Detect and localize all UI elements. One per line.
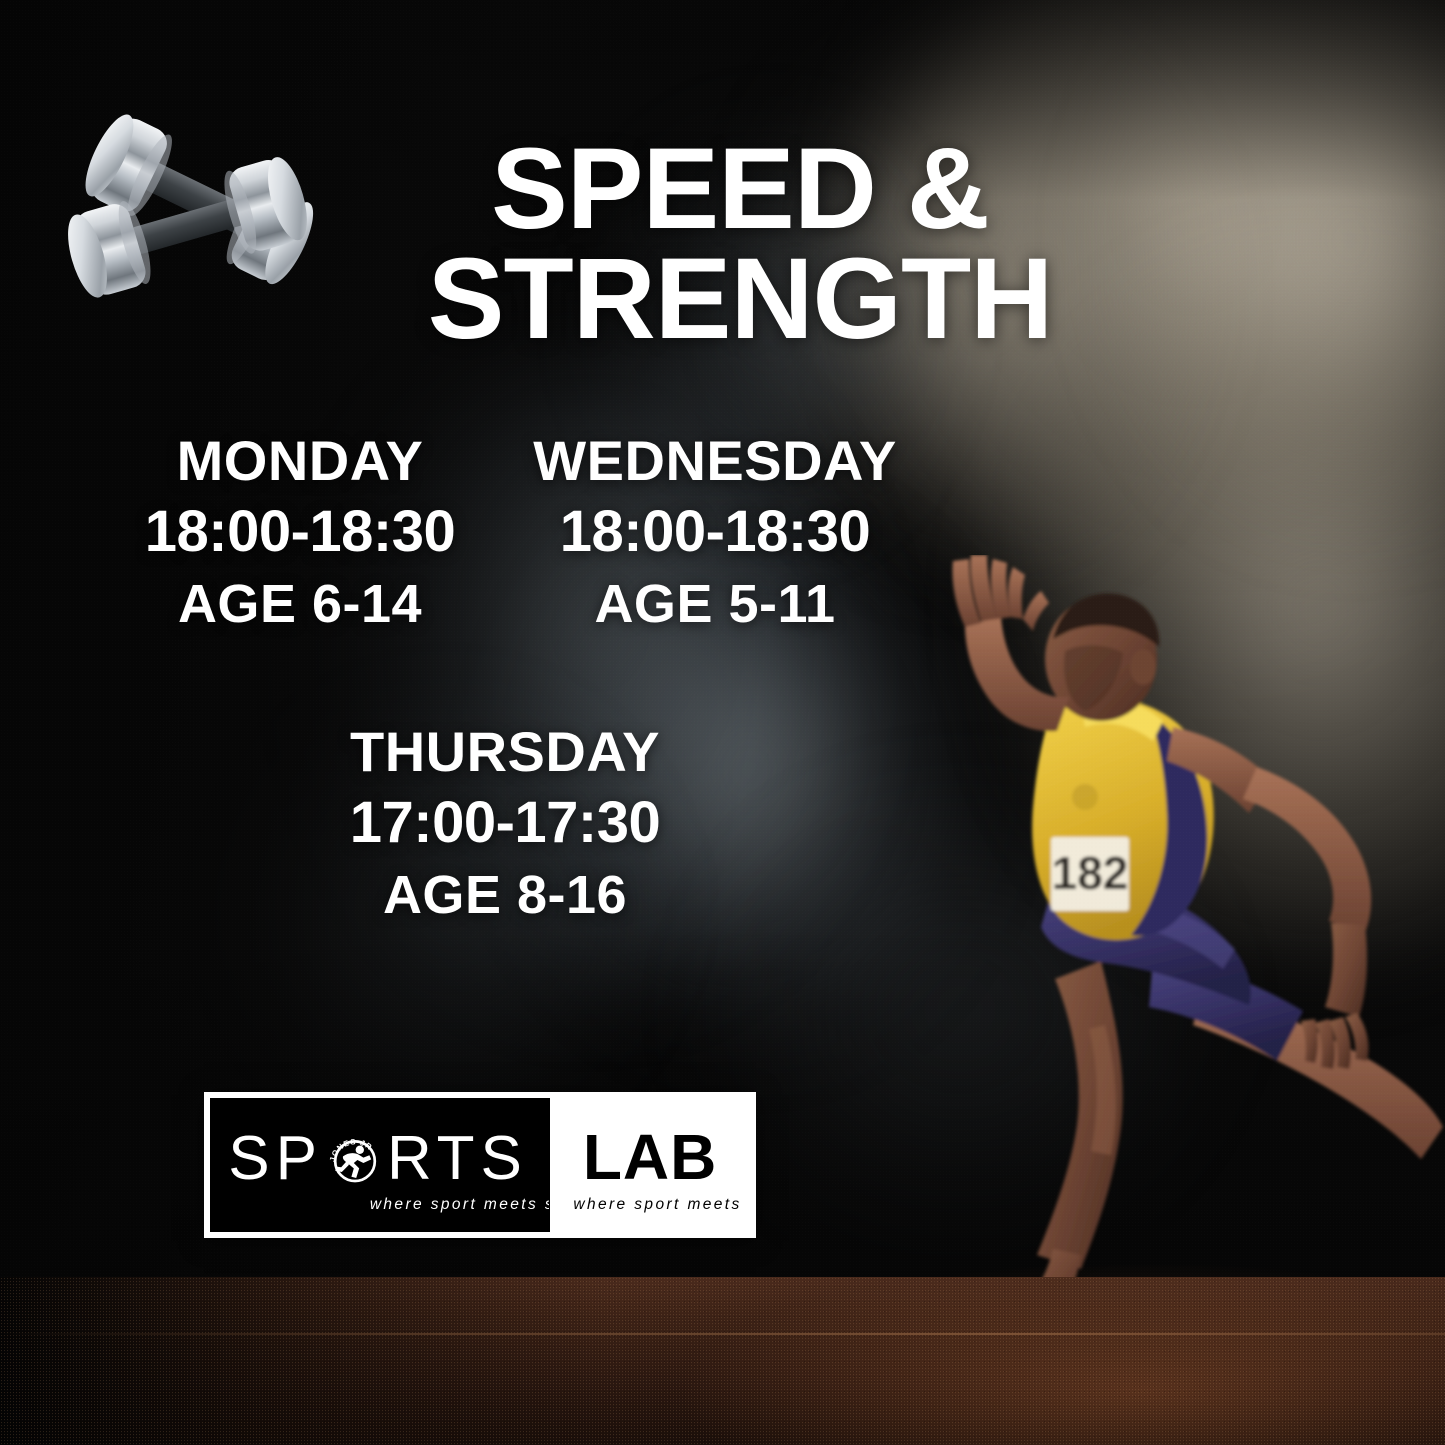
session-time-label: 17:00-17:30: [290, 784, 720, 863]
track-texture: [0, 1277, 1445, 1445]
session-age-label: AGE 8-16: [290, 863, 720, 929]
logo-text-rts: RTS: [387, 1123, 528, 1194]
logo-tagline-on-dark: where sport meets science: [216, 1196, 549, 1218]
schedule-block: MONDAY 18:00-18:30 AGE 6-14 WEDNESDAY 18…: [100, 430, 930, 929]
logo-tagline: where sport meets science where sport me…: [216, 1196, 744, 1218]
schedule-row-bottom: THURSDAY 17:00-17:30 AGE 8-16: [100, 721, 930, 928]
logo-tagline-on-light: where sport meets science: [549, 1196, 744, 1218]
running-track-surface: [0, 1277, 1445, 1445]
logo-text-sp: SP: [228, 1123, 323, 1194]
session-thursday: THURSDAY 17:00-17:30 AGE 8-16: [290, 721, 720, 928]
logo-wordmark-lab: LAB: [583, 1120, 718, 1194]
poster-title: SPEED & STRENGTH: [410, 134, 1070, 355]
session-wednesday: WEDNESDAY 18:00-18:30 AGE 5-11: [500, 430, 930, 637]
session-age-label: AGE 5-11: [500, 572, 930, 638]
title-line-2: STRENGTH: [410, 244, 1070, 354]
logo-tagline-text: where sport meets science: [549, 1196, 744, 1214]
session-monday: MONDAY 18:00-18:30 AGE 6-14: [100, 430, 500, 637]
schedule-row-top: MONDAY 18:00-18:30 AGE 6-14 WEDNESDAY 18…: [100, 430, 930, 637]
runner-bib-number: 182: [1052, 847, 1129, 899]
session-age-label: AGE 6-14: [100, 572, 500, 638]
title-line-1: SPEED &: [410, 134, 1070, 244]
dumbbell-icon: [48, 92, 348, 307]
logo-wordmark-sports: SP JONES JR: [228, 1123, 528, 1194]
session-day-label: MONDAY: [100, 430, 500, 493]
session-time-label: 18:00-18:30: [500, 493, 930, 572]
session-time-label: 18:00-18:30: [100, 493, 500, 572]
session-day-label: THURSDAY: [290, 721, 720, 784]
running-figure-icon: JONES JR: [325, 1130, 385, 1190]
logo-tagline-text: where sport meets science: [216, 1196, 549, 1214]
poster-canvas: 182: [0, 0, 1445, 1445]
brand-logo[interactable]: SP JONES JR: [204, 1092, 756, 1238]
session-day-label: WEDNESDAY: [500, 430, 930, 493]
logo-inner: SP JONES JR: [210, 1098, 750, 1232]
